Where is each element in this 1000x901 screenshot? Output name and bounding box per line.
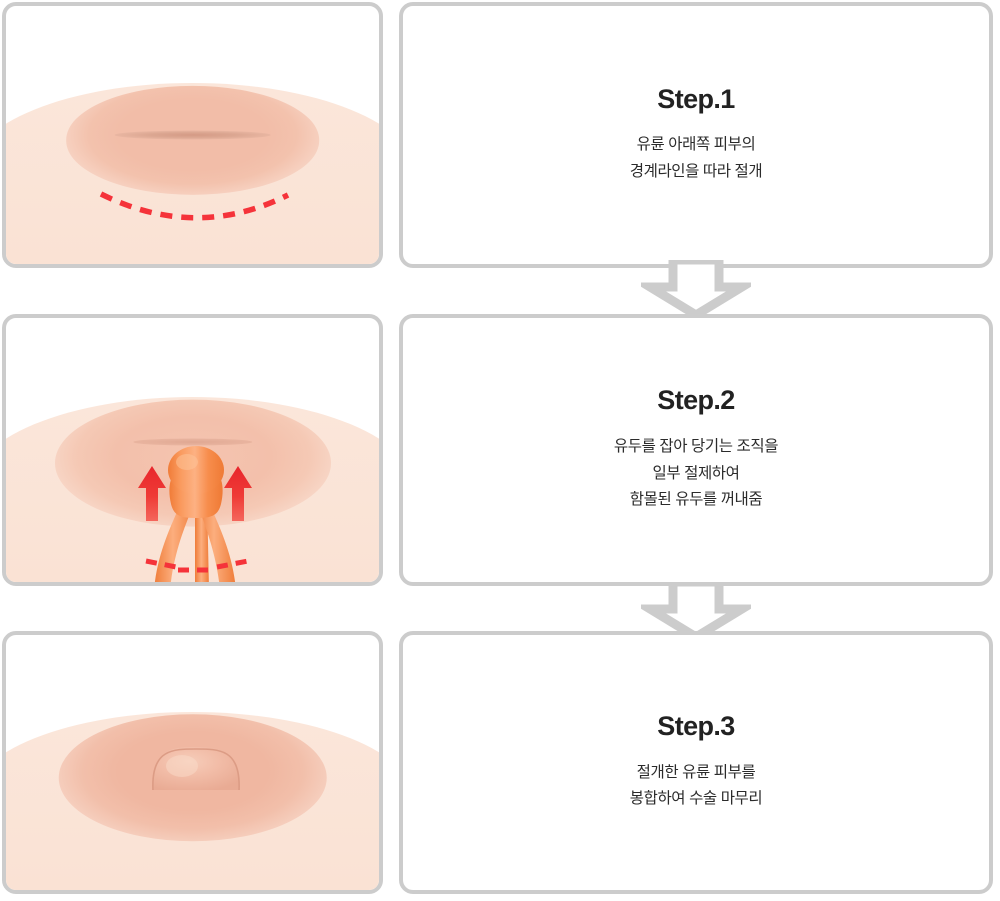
illustration-step-1-scene [6,6,379,264]
traction-arrow-left [138,466,166,521]
illustration-panel-step-3 [2,631,383,894]
step-description: 절개한 유륜 피부를 봉합하여 수술 마무리 [630,760,763,813]
traction-arrow-right [224,466,252,521]
procedure-diagram: Step.1 유륜 아래쪽 피부의 경계라인을 따라 절개 [0,0,1000,901]
step-title: Step.1 [657,85,734,115]
illustration-panel-step-1 [2,2,383,268]
nipple-highlight [176,454,198,470]
nipple-traction-illustration [6,318,379,582]
step-description: 유두를 잡아 당기는 조직을 일부 절제하여 함몰된 유두를 꺼내줌 [614,434,778,514]
illustration-step-3-scene [6,635,379,890]
text-panel-step-1: Step.1 유륜 아래쪽 피부의 경계라인을 따라 절개 [399,2,993,268]
step-description: 유륜 아래쪽 피부의 경계라인을 따라 절개 [630,132,763,185]
protruding-nipple-illustration [6,635,379,890]
text-panel-step-3: Step.3 절개한 유륜 피부를 봉합하여 수술 마무리 [399,631,993,894]
arrow-step2-to-step3 [641,582,751,638]
illustration-panel-step-2: 유두를 잡아 당기는 섬유조직 박리 [2,314,383,586]
nipple-highlight [166,755,198,777]
text-panel-step-2: Step.2 유두를 잡아 당기는 조직을 일부 절제하여 함몰된 유두를 꺼내… [399,314,993,586]
step-title: Step.2 [657,386,734,416]
illustration-step-2-scene: 유두를 잡아 당기는 섬유조직 박리 [6,318,379,582]
step-title: Step.3 [657,712,734,742]
nipple-head [168,446,224,494]
incision-dashed-line-icon [6,6,379,264]
arrow-step1-to-step2 [641,260,751,316]
